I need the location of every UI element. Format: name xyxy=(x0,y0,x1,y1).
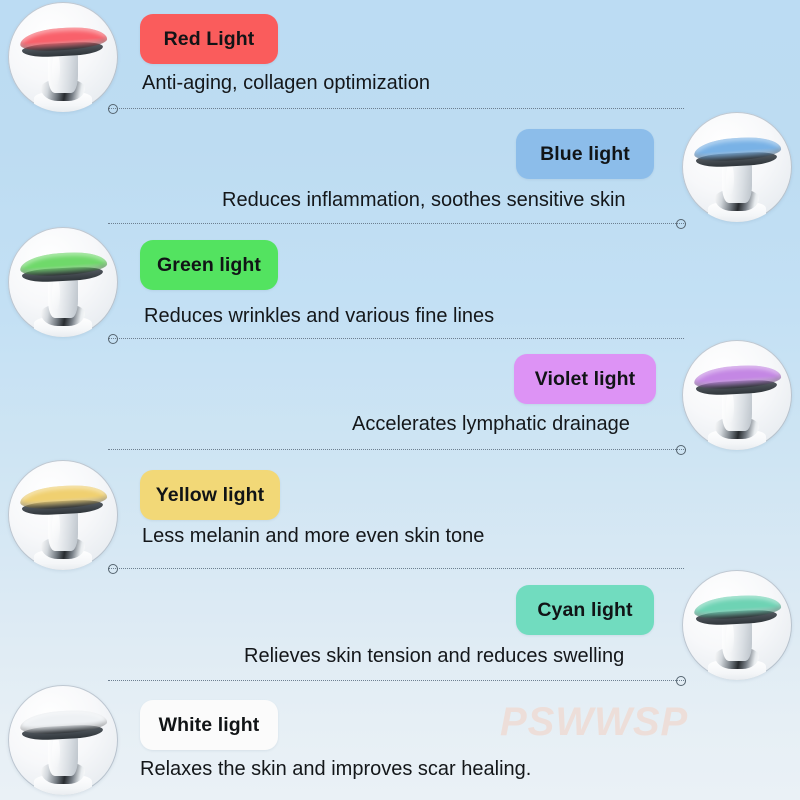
device-stem-highlight-green-light xyxy=(52,278,60,311)
device-body-green-light xyxy=(8,227,118,337)
description-violet-light: Accelerates lymphatic drainage xyxy=(352,413,630,436)
connector-blue-light xyxy=(108,219,686,228)
device-image-white-light xyxy=(8,685,118,795)
device-body-cyan-light xyxy=(682,570,792,680)
connector-yellow-light xyxy=(108,564,684,573)
badge-violet-light[interactable]: Violet light xyxy=(514,354,656,404)
description-red-light: Anti-aging, collagen optimization xyxy=(142,72,430,95)
device-stem-highlight-blue-light xyxy=(726,163,734,196)
badge-green-light[interactable]: Green light xyxy=(140,240,278,290)
device-stem-highlight-white-light xyxy=(52,736,60,769)
connector-red-light xyxy=(108,104,684,113)
connector-endpoint-green-light xyxy=(108,334,118,344)
connector-cyan-light xyxy=(108,676,686,685)
connector-endpoint-yellow-light xyxy=(108,564,118,574)
connector-endpoint-violet-light xyxy=(676,445,686,455)
connector-line-red-light xyxy=(108,108,684,109)
device-body-white-light xyxy=(8,685,118,795)
badge-label-blue-light: Blue light xyxy=(540,143,630,166)
badge-blue-light[interactable]: Blue light xyxy=(516,129,654,179)
description-yellow-light: Less melanin and more even skin tone xyxy=(142,525,484,548)
connector-green-light xyxy=(108,334,684,343)
device-stem-highlight-cyan-light xyxy=(726,621,734,654)
connector-endpoint-blue-light xyxy=(676,219,686,229)
connector-endpoint-cyan-light xyxy=(676,676,686,686)
watermark: PSWWSP xyxy=(500,700,688,745)
connector-line-green-light xyxy=(108,338,684,339)
device-stem-highlight-violet-light xyxy=(726,391,734,424)
device-stem-highlight-red-light xyxy=(52,53,60,86)
description-blue-light: Reduces inflammation, soothes sensitive … xyxy=(222,189,626,212)
badge-label-red-light: Red Light xyxy=(164,28,255,51)
device-image-yellow-light xyxy=(8,460,118,570)
device-body-yellow-light xyxy=(8,460,118,570)
connector-line-violet-light xyxy=(108,449,686,450)
badge-red-light[interactable]: Red Light xyxy=(140,14,278,64)
badge-label-yellow-light: Yellow light xyxy=(156,484,264,507)
device-image-violet-light xyxy=(682,340,792,450)
device-stem-highlight-yellow-light xyxy=(52,511,60,544)
device-image-red-light xyxy=(8,2,118,112)
description-cyan-light: Relieves skin tension and reduces swelli… xyxy=(244,645,624,668)
badge-white-light[interactable]: White light xyxy=(140,700,278,750)
description-green-light: Reduces wrinkles and various fine lines xyxy=(144,305,494,328)
connector-line-yellow-light xyxy=(108,568,684,569)
connector-line-blue-light xyxy=(108,223,686,224)
device-body-red-light xyxy=(8,2,118,112)
device-body-violet-light xyxy=(682,340,792,450)
device-body-blue-light xyxy=(682,112,792,222)
connector-endpoint-red-light xyxy=(108,104,118,114)
device-image-green-light xyxy=(8,227,118,337)
badge-label-cyan-light: Cyan light xyxy=(537,599,632,622)
connector-line-cyan-light xyxy=(108,680,686,681)
badge-label-green-light: Green light xyxy=(157,254,261,277)
badge-label-white-light: White light xyxy=(159,714,260,737)
infographic-stage: Red LightAnti-aging, collagen optimizati… xyxy=(0,0,800,800)
description-white-light: Relaxes the skin and improves scar heali… xyxy=(140,758,531,781)
badge-label-violet-light: Violet light xyxy=(535,368,636,391)
badge-yellow-light[interactable]: Yellow light xyxy=(140,470,280,520)
badge-cyan-light[interactable]: Cyan light xyxy=(516,585,654,635)
device-image-blue-light xyxy=(682,112,792,222)
connector-violet-light xyxy=(108,445,686,454)
device-image-cyan-light xyxy=(682,570,792,680)
